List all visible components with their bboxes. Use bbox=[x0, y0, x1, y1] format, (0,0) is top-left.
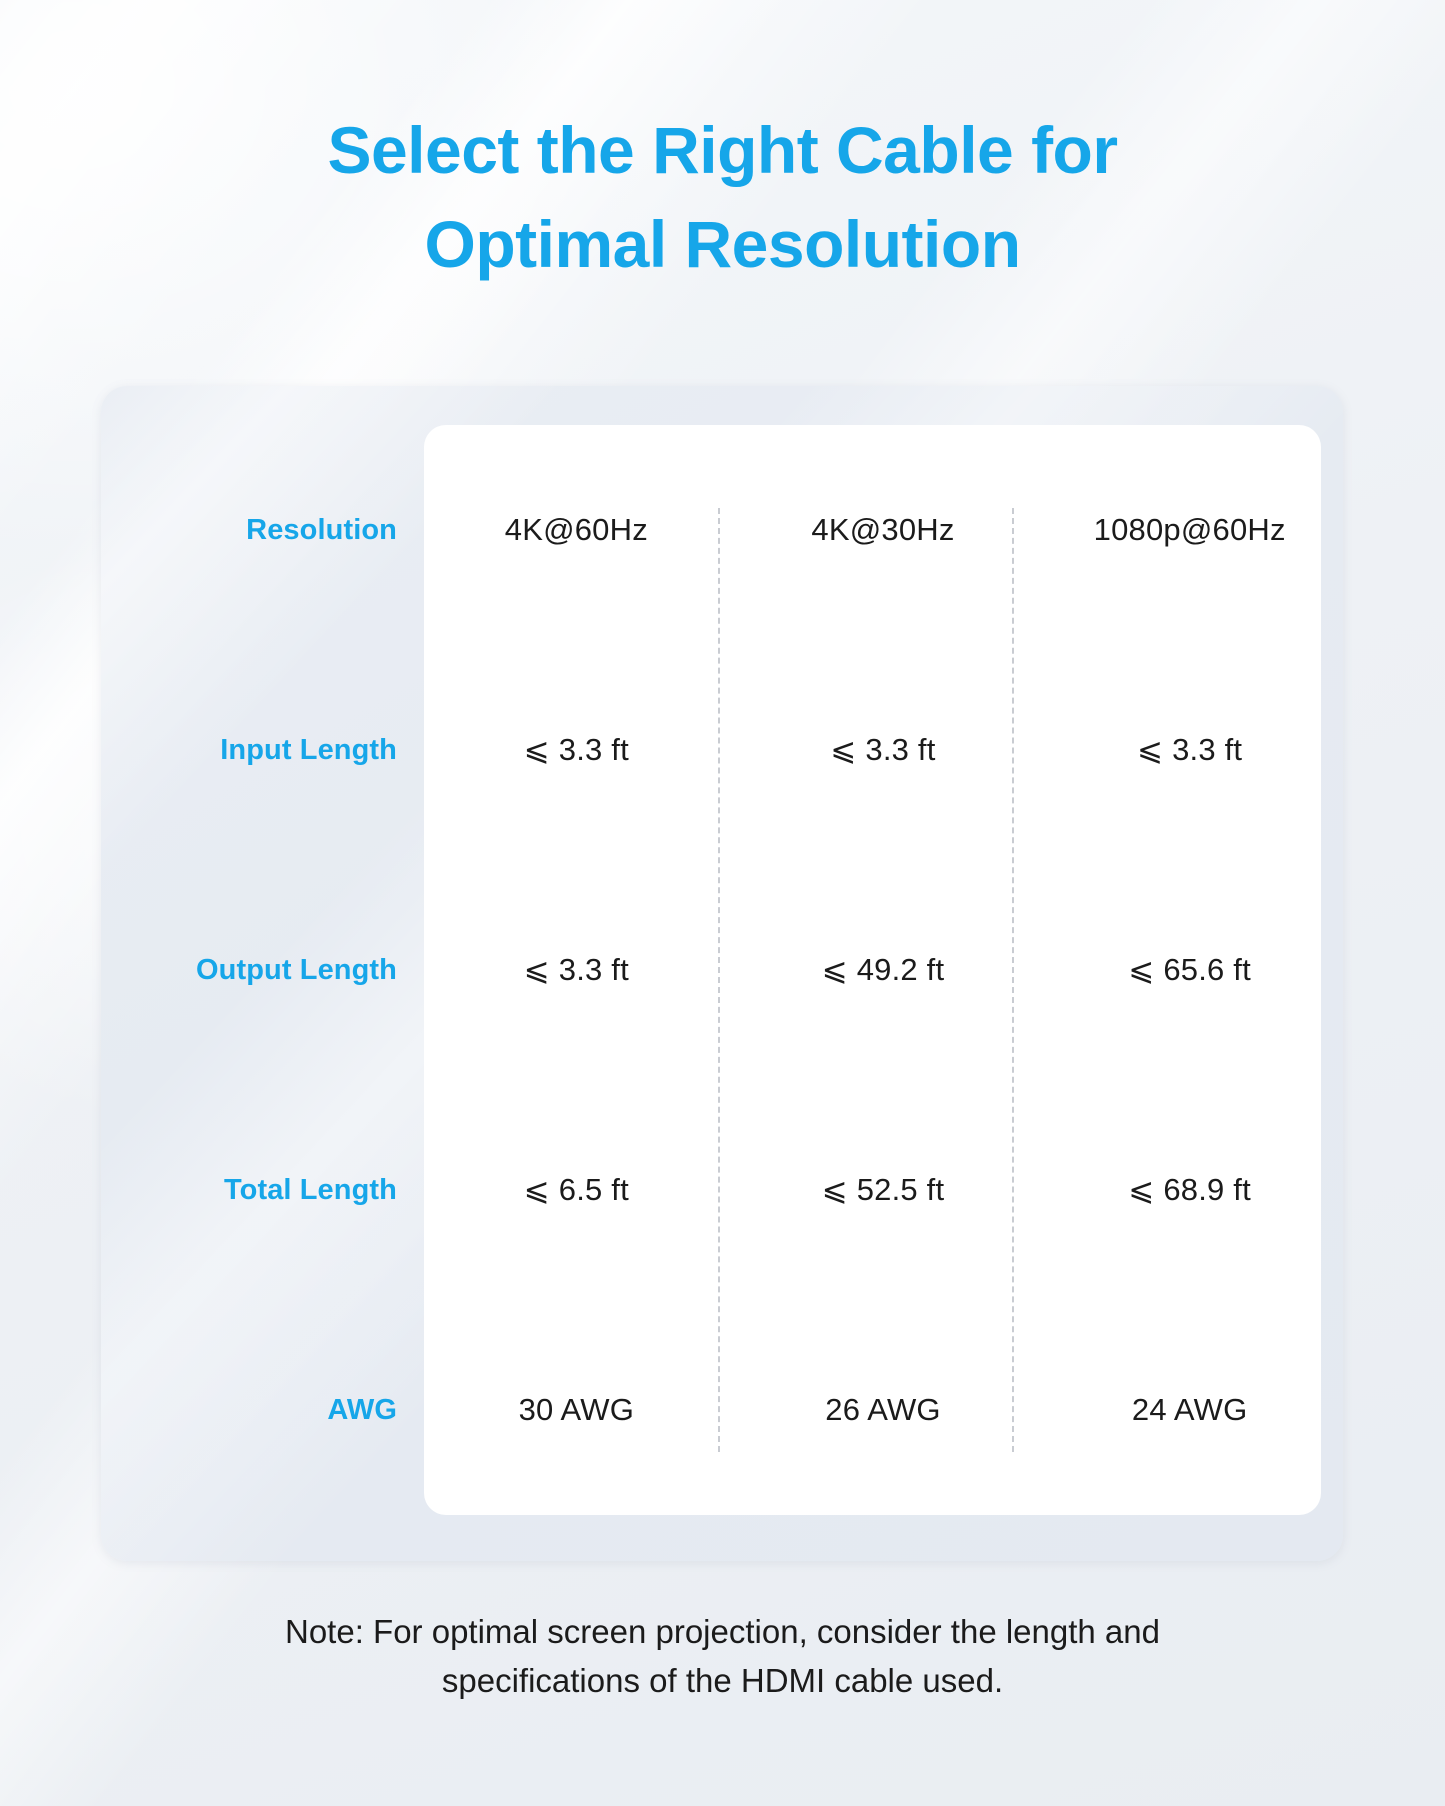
cell-resolution-col2: 4K@30Hz bbox=[730, 420, 1037, 640]
cell-input-length-col3: ⩽ 3.3 ft bbox=[1036, 640, 1343, 860]
cell-output-length-col1: ⩽ 3.3 ft bbox=[423, 860, 730, 1080]
row-label-total-length: Total Length bbox=[101, 1080, 423, 1300]
row-label-awg: AWG bbox=[101, 1300, 423, 1520]
cell-output-length-col3: ⩽ 65.6 ft bbox=[1036, 860, 1343, 1080]
cell-total-length-col2: ⩽ 52.5 ft bbox=[730, 1080, 1037, 1300]
cell-awg-col1: 30 AWG bbox=[423, 1300, 730, 1520]
cell-output-length-col2: ⩽ 49.2 ft bbox=[730, 860, 1037, 1080]
infographic-page: Select the Right Cable for Optimal Resol… bbox=[0, 0, 1445, 1806]
cell-awg-col2: 26 AWG bbox=[730, 1300, 1037, 1520]
cell-resolution-col1: 4K@60Hz bbox=[423, 420, 730, 640]
row-label-resolution: Resolution bbox=[101, 420, 423, 640]
page-title-line-1: Select the Right Cable for bbox=[0, 104, 1445, 198]
footnote-line-1: Note: For optimal screen projection, con… bbox=[285, 1613, 1160, 1650]
cable-spec-table: Resolution 4K@60Hz 4K@30Hz 1080p@60Hz In… bbox=[101, 420, 1343, 1520]
cell-resolution-col3: 1080p@60Hz bbox=[1036, 420, 1343, 640]
cell-input-length-col2: ⩽ 3.3 ft bbox=[730, 640, 1037, 860]
cell-input-length-col1: ⩽ 3.3 ft bbox=[423, 640, 730, 860]
cell-total-length-col1: ⩽ 6.5 ft bbox=[423, 1080, 730, 1300]
cell-total-length-col3: ⩽ 68.9 ft bbox=[1036, 1080, 1343, 1300]
row-label-input-length: Input Length bbox=[101, 640, 423, 860]
cell-awg-col3: 24 AWG bbox=[1036, 1300, 1343, 1520]
page-title-line-2: Optimal Resolution bbox=[0, 198, 1445, 292]
footnote: Note: For optimal screen projection, con… bbox=[218, 1608, 1228, 1706]
row-label-output-length: Output Length bbox=[101, 860, 423, 1080]
footnote-line-2: specifications of the HDMI cable used. bbox=[442, 1662, 1003, 1699]
page-title: Select the Right Cable for Optimal Resol… bbox=[0, 104, 1445, 291]
